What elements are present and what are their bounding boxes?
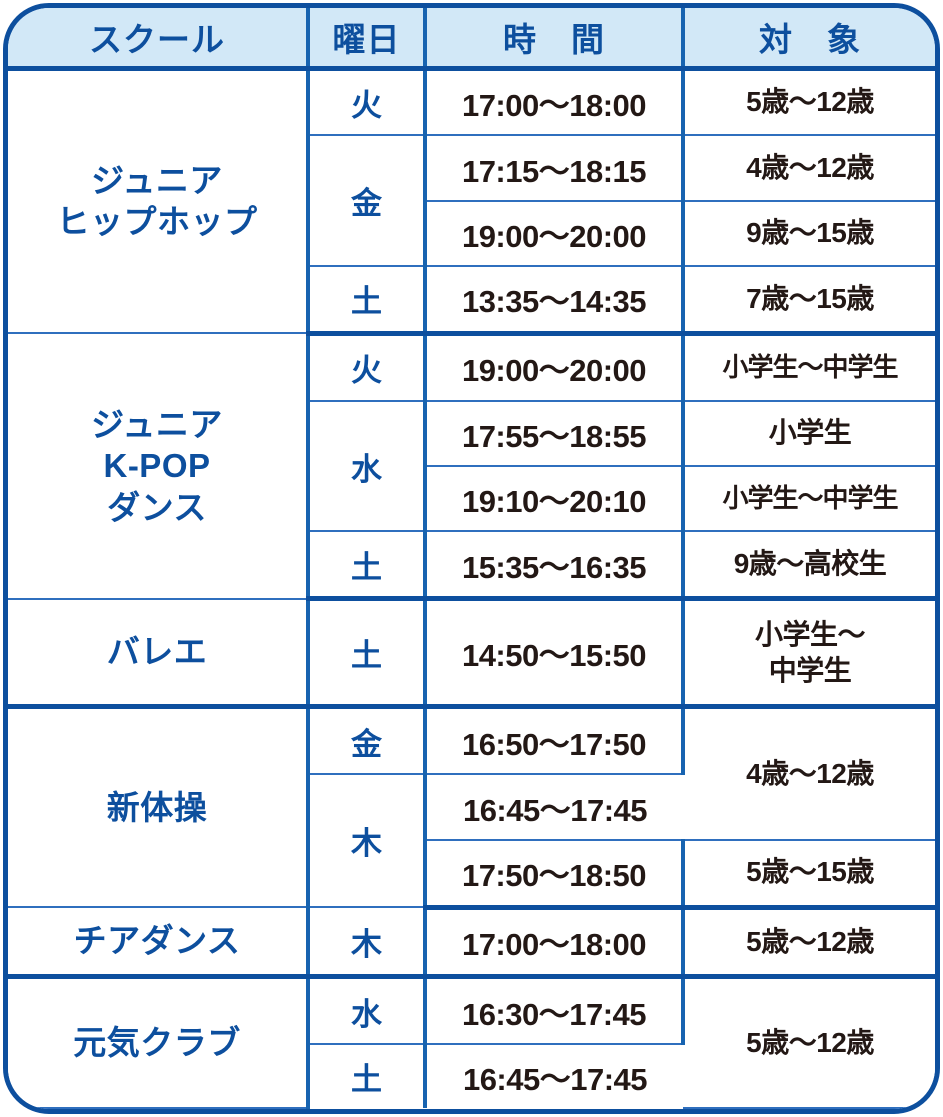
table-row: バレエ 土 14:50〜15:50 小学生〜 中学生 [8, 599, 935, 707]
time-cell: 17:50〜18:50 [425, 840, 683, 907]
table-row: ジュニア ヒップホップ 火 17:00〜18:00 5歳〜12歳 [8, 68, 935, 135]
target-cell: 5歳〜12歳 [683, 907, 935, 976]
column-header-day: 曜日 [308, 8, 425, 68]
school-name-line: 元気クラブ [8, 1022, 306, 1064]
target-line: 小学生〜 [685, 617, 935, 653]
school-name-cell: バレエ [8, 599, 308, 707]
time-cell: 17:00〜18:00 [425, 907, 683, 976]
school-name-line: チアダンス [8, 920, 306, 962]
day-cell: 金 [308, 135, 425, 266]
schedule-sheet: スクール 曜日 時 間 対 象 ジュニア ヒップホップ 火 17:00〜18:0… [0, 0, 943, 1117]
target-cell: 9歳〜高校生 [683, 531, 935, 598]
time-cell: 16:45〜17:45 [425, 1044, 683, 1108]
target-cell: 4歳〜12歳 [683, 707, 935, 840]
day-cell: 木 [308, 774, 425, 907]
target-line: 中学生 [685, 653, 935, 689]
day-cell: 土 [308, 1044, 425, 1108]
school-name-cell: チアダンス [8, 907, 308, 976]
day-cell: 土 [308, 599, 425, 707]
day-cell: 火 [308, 333, 425, 400]
column-header-target: 対 象 [683, 8, 935, 68]
time-cell: 13:35〜14:35 [425, 266, 683, 333]
target-cell: 小学生〜 中学生 [683, 599, 935, 707]
day-cell: 火 [308, 68, 425, 135]
time-cell: 19:00〜20:00 [425, 201, 683, 266]
school-name-line: ダンス [8, 487, 306, 529]
day-cell: 土 [308, 266, 425, 333]
school-name-cell: ジュニア K-POP ダンス [8, 333, 308, 598]
target-cell: 小学生 [683, 401, 935, 466]
column-header-school: スクール [8, 8, 308, 68]
target-cell: 5歳〜15歳 [683, 840, 935, 907]
time-cell: 17:15〜18:15 [425, 135, 683, 200]
day-cell: 木 [308, 907, 425, 976]
column-header-time: 時 間 [425, 8, 683, 68]
time-cell: 14:50〜15:50 [425, 599, 683, 707]
table-row: チアダンス 木 17:00〜18:00 5歳〜12歳 [8, 907, 935, 976]
school-name-cell: 新体操 [8, 707, 308, 907]
time-cell: 16:45〜17:45 [425, 774, 683, 839]
target-cell: 9歳〜15歳 [683, 201, 935, 266]
school-name-line: 新体操 [8, 787, 306, 829]
header-row: スクール 曜日 時 間 対 象 [8, 8, 935, 68]
day-cell: 水 [308, 401, 425, 532]
school-name-line: ジュニア [8, 404, 306, 446]
time-cell: 16:30〜17:45 [425, 977, 683, 1044]
time-cell: 15:35〜16:35 [425, 531, 683, 598]
school-name-line: ジュニア [8, 160, 306, 202]
time-cell: 19:00〜20:00 [425, 333, 683, 400]
school-name-cell: 元気クラブ [8, 977, 308, 1108]
day-cell: 土 [308, 531, 425, 598]
day-cell: 水 [308, 977, 425, 1044]
time-cell: 17:55〜18:55 [425, 401, 683, 466]
time-cell: 16:50〜17:50 [425, 707, 683, 774]
target-cell: 小学生〜中学生 [683, 466, 935, 531]
target-cell: 4歳〜12歳 [683, 135, 935, 200]
table-body: ジュニア ヒップホップ 火 17:00〜18:00 5歳〜12歳 金 17:15… [8, 68, 935, 1108]
target-cell: 5歳〜12歳 [683, 977, 935, 1108]
school-name-line: ヒップホップ [8, 201, 306, 243]
school-name-line: K-POP [8, 445, 306, 487]
table-row: ジュニア K-POP ダンス 火 19:00〜20:00 小学生〜中学生 [8, 333, 935, 400]
target-cell: 7歳〜15歳 [683, 266, 935, 333]
target-cell: 小学生〜中学生 [683, 333, 935, 400]
school-name-line: バレエ [8, 631, 306, 673]
schedule-table: スクール 曜日 時 間 対 象 ジュニア ヒップホップ 火 17:00〜18:0… [8, 8, 935, 1109]
school-name-cell: ジュニア ヒップホップ [8, 68, 308, 333]
target-cell: 5歳〜12歳 [683, 68, 935, 135]
schedule-table-frame: スクール 曜日 時 間 対 象 ジュニア ヒップホップ 火 17:00〜18:0… [3, 3, 940, 1114]
day-cell: 金 [308, 707, 425, 774]
table-row: 新体操 金 16:50〜17:50 4歳〜12歳 [8, 707, 935, 774]
time-cell: 17:00〜18:00 [425, 68, 683, 135]
table-row: 元気クラブ 水 16:30〜17:45 5歳〜12歳 [8, 977, 935, 1044]
time-cell: 19:10〜20:10 [425, 466, 683, 531]
table-header: スクール 曜日 時 間 対 象 [8, 8, 935, 68]
